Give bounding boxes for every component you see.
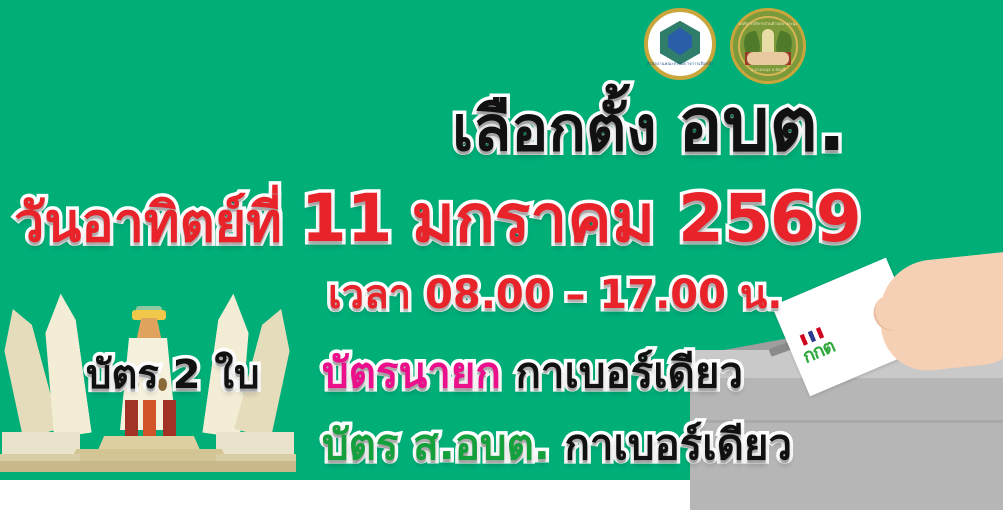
monument-step-upper xyxy=(98,436,200,450)
headline: เลือกตั้ง อบต. xyxy=(452,88,846,162)
monument-pillar-left xyxy=(125,400,138,436)
member-ballot-label: บัตร ส.อบต. xyxy=(322,420,550,469)
date-day-number: 11 xyxy=(301,180,393,257)
mayor-ballot-row: บัตรนายก กาเบอร์เดียว xyxy=(322,352,743,394)
seal-left-caption: สำนักงานคณะกรรมการการเลือกตั้ง xyxy=(647,60,714,67)
monument-pillar-right xyxy=(163,400,176,436)
member-ballot-row: บัตร ส.อบต. กาเบอร์เดียว xyxy=(322,424,792,466)
election-date-line: วันอาทิตย์ที่ 11 มกราคม 2569 xyxy=(14,186,862,252)
local-administration-seal-icon: องค์การบริหารส่วนตำบลบางละมุง อ.บางละมุง… xyxy=(730,8,806,84)
headline-prefix: เลือกตั้ง xyxy=(452,92,657,165)
seal-right-caption-top: องค์การบริหารส่วนตำบลบางละมุง xyxy=(739,20,798,27)
election-time-line: เวลา 08.00 – 17.00 น. xyxy=(328,275,782,315)
election-banner: สำนักงานคณะกรรมการการเลือกตั้ง องค์การบร… xyxy=(0,0,1003,510)
member-ballot-instruction: กาเบอร์เดียว xyxy=(564,420,792,469)
bottom-white-strip xyxy=(0,480,690,510)
mayor-ballot-instruction: กาเบอร์เดียว xyxy=(515,348,743,397)
monument-base-left xyxy=(2,432,80,454)
ballot-count-label: บัตร 2 ใบ xyxy=(86,355,259,395)
seal-right-caption-bottom: อ.บางละมุง จ.ชลบุรี xyxy=(751,66,785,73)
date-month-year: มกราคม 2569 xyxy=(411,180,861,257)
monument-ground xyxy=(0,461,296,472)
headline-org: อบต. xyxy=(678,82,846,168)
date-day-prefix: วันอาทิตย์ที่ xyxy=(14,191,282,254)
thai-government-seal-icon: สำนักงานคณะกรรมการการเลือกตั้ง xyxy=(644,8,716,80)
monument-pillar-center xyxy=(143,400,156,436)
mayor-ballot-label: บัตรนายก xyxy=(322,348,501,397)
seal-right-handshake-icon xyxy=(747,52,789,65)
monument-base-right xyxy=(216,432,294,454)
